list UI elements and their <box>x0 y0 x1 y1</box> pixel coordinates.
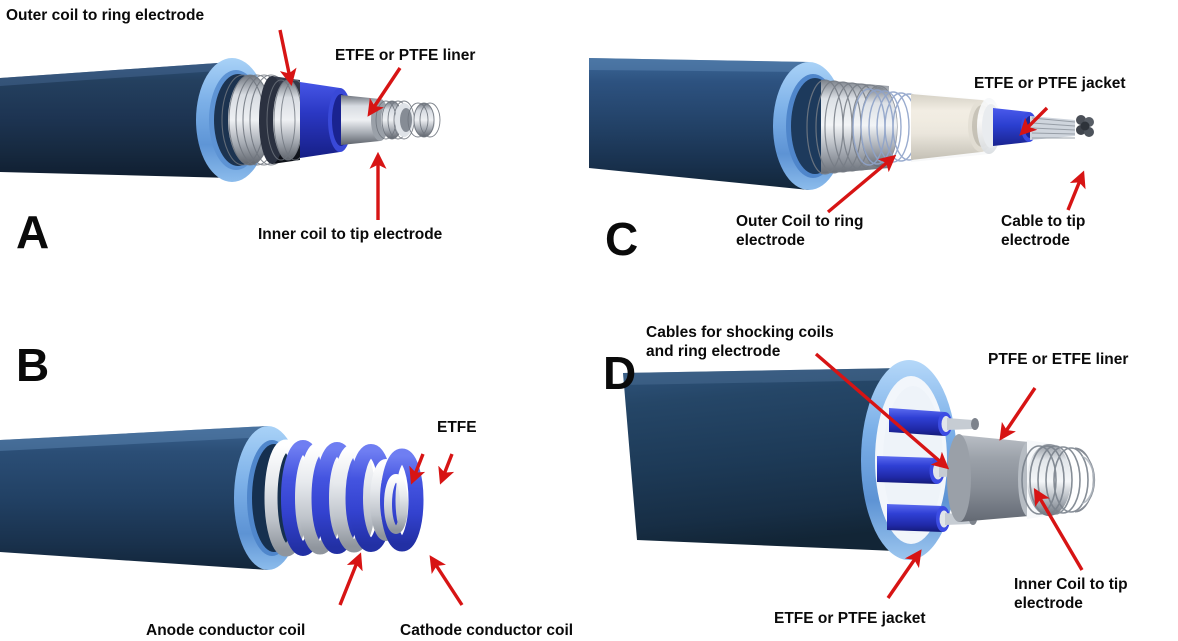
label-cables-shocking-coils-d: Cables for shocking coils and ring elect… <box>646 323 834 361</box>
panel-d: D Cables for shocking coils and ring ele… <box>589 290 1178 641</box>
panel-b-letter: B <box>16 342 49 388</box>
white-sheath <box>911 92 1001 162</box>
label-etfe-ptfe-jacket-d: ETFE or PTFE jacket <box>774 609 926 628</box>
panel-c: C ETFE or PTFE jacket Outer Coil to ring… <box>589 0 1178 290</box>
strand-bundle <box>1076 115 1094 137</box>
central-metal-body <box>947 434 1040 522</box>
cable-to-tip <box>1030 115 1094 140</box>
cable-stub-top <box>889 408 979 436</box>
panel-a: A Outer coil to ring electrode ETFE or P… <box>0 0 589 290</box>
panel-c-artwork <box>589 0 1178 290</box>
panel-c-letter: C <box>605 216 638 262</box>
panel-b: B ETFE Anode conductor coil Cathode cond… <box>0 290 589 641</box>
label-inner-coil-tip-electrode-d: Inner Coil to tip electrode <box>1014 575 1128 613</box>
label-etfe-ptfe-jacket-c: ETFE or PTFE jacket <box>974 74 1126 93</box>
label-inner-coil-tip-electrode-a: Inner coil to tip electrode <box>258 225 442 244</box>
label-anode-conductor-coil-b: Anode conductor coil <box>146 621 305 640</box>
inner-coil <box>376 101 440 139</box>
label-cathode-conductor-coil-b: Cathode conductor coil <box>400 621 573 640</box>
panel-a-artwork <box>0 0 589 290</box>
label-outer-coil-ring-electrode-a: Outer coil to ring electrode <box>6 6 204 25</box>
label-cable-tip-electrode-c: Cable to tip electrode <box>1001 212 1085 250</box>
coradial-coils <box>271 446 416 550</box>
figure-canvas: A Outer coil to ring electrode ETFE or P… <box>0 0 1178 641</box>
label-outer-coil-ring-electrode-c: Outer Coil to ring electrode <box>736 212 863 250</box>
label-ptfe-etfe-liner-d: PTFE or ETFE liner <box>988 350 1128 369</box>
panel-a-letter: A <box>16 209 49 255</box>
panel-d-letter: D <box>603 350 636 396</box>
label-etfe-ptfe-liner-a: ETFE or PTFE liner <box>335 46 475 65</box>
panel-b-artwork <box>0 290 589 641</box>
label-etfe-b: ETFE <box>437 418 477 437</box>
lead-body <box>0 426 268 570</box>
